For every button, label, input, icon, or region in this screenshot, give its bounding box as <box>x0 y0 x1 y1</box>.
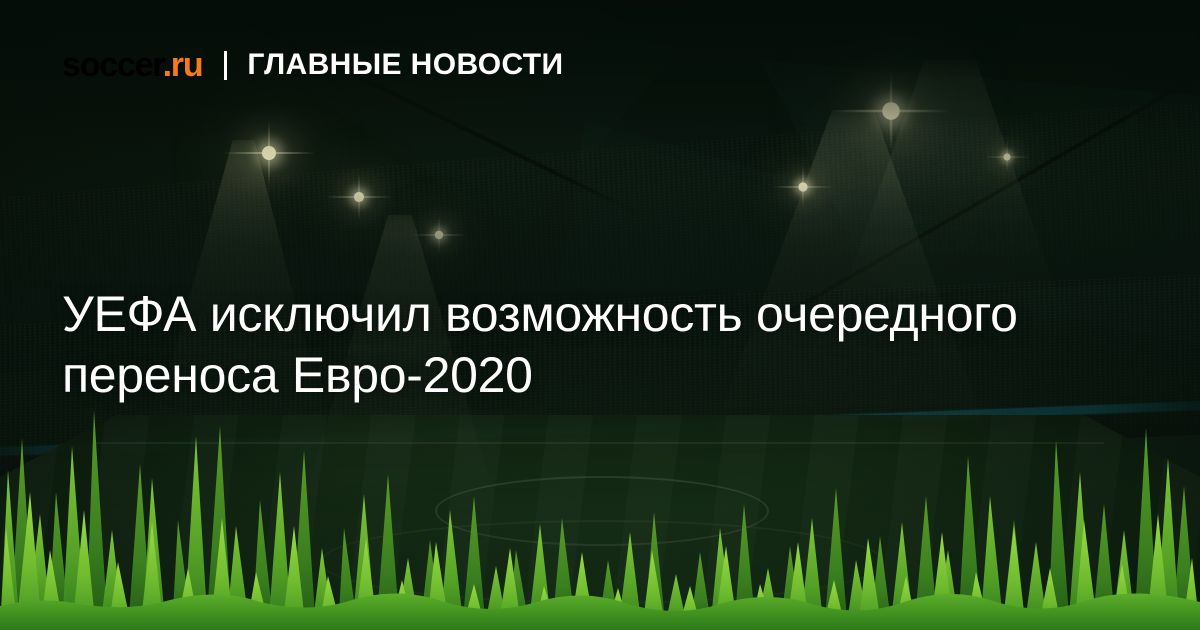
news-share-card: soccer.ru ГЛАВНЫЕ НОВОСТИ УЕФА исключил … <box>0 0 1200 630</box>
page-title: УЕФА исключил возможность очередного пер… <box>62 284 1022 406</box>
soccer-ru-logo[interactable]: soccer.ru <box>62 48 202 82</box>
header-kicker: ГЛАВНЫЕ НОВОСТИ <box>247 50 563 80</box>
brand-header: soccer.ru ГЛАВНЫЕ НОВОСТИ <box>62 48 564 82</box>
logo-word: soccer <box>62 46 163 84</box>
logo-tld: .ru <box>163 46 203 84</box>
header-separator <box>224 51 227 80</box>
foreground-grass <box>0 400 1200 630</box>
